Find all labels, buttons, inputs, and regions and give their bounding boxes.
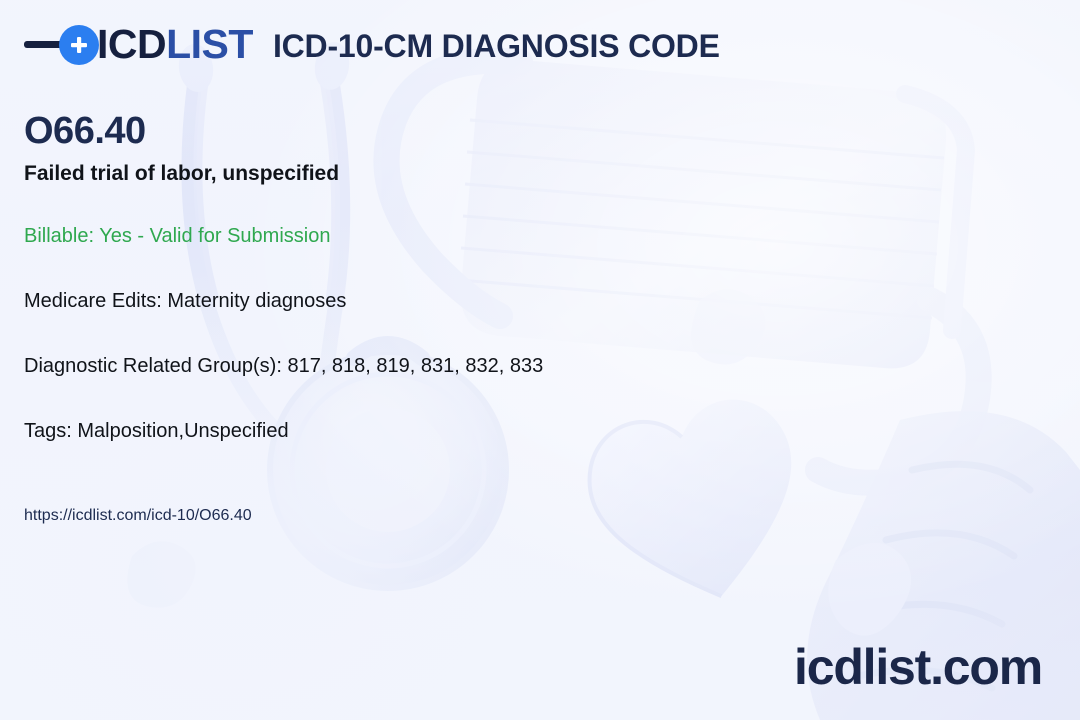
footer-watermark: icdlist.com — [794, 642, 1042, 692]
diagnosis-description: Failed trial of labor, unspecified — [24, 161, 1024, 186]
icd-code-card: ICDLIST ICD-10-CM DIAGNOSIS CODE O66.40 … — [0, 0, 1080, 720]
source-url[interactable]: https://icdlist.com/icd-10/O66.40 — [24, 506, 252, 525]
diagnostic-related-groups: Diagnostic Related Group(s): 817, 818, 8… — [24, 354, 1024, 378]
plus-icon — [59, 25, 99, 65]
billable-status: Billable: Yes - Valid for Submission — [24, 224, 1024, 248]
icdlist-logo[interactable]: ICDLIST — [24, 24, 253, 65]
page-header: ICDLIST ICD-10-CM DIAGNOSIS CODE — [24, 24, 720, 65]
tags: Tags: Malposition,Unspecified — [24, 419, 1024, 443]
diagnosis-code: O66.40 — [24, 110, 1024, 153]
logo-wordmark: ICDLIST — [97, 24, 253, 65]
medicare-edits: Medicare Edits: Maternity diagnoses — [24, 289, 1024, 313]
code-details: O66.40 Failed trial of labor, unspecifie… — [24, 110, 1024, 443]
logo-word-list: LIST — [166, 21, 253, 67]
page-title: ICD-10-CM DIAGNOSIS CODE — [273, 28, 720, 62]
logo-word-icd: ICD — [97, 21, 166, 67]
